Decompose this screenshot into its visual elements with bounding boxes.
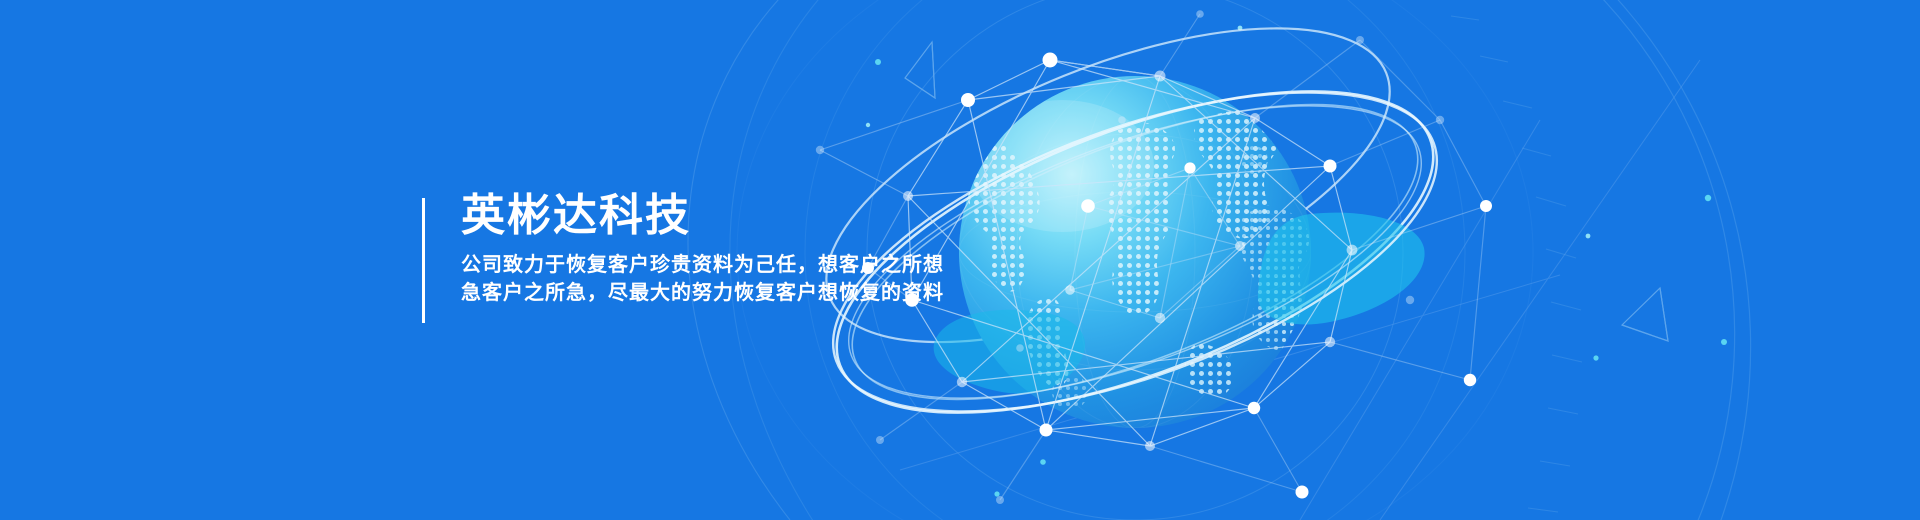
text-column: 英彬达科技 公司致力于恢复客户珍贵资料为己任，想客户之所想 急客户之所急，尽最大…: [425, 190, 944, 325]
subtitle-line-1: 公司致力于恢复客户珍贵资料为己任，想客户之所想: [461, 251, 944, 279]
subtitle-line-2: 急客户之所急，尽最大的努力恢复客户想恢复的资料: [461, 279, 944, 307]
page-title: 英彬达科技: [461, 190, 944, 242]
subtitle-block: 公司致力于恢复客户珍贵资料为己任，想客户之所想 急客户之所急，尽最大的努力恢复客…: [461, 251, 944, 307]
hero-banner: 英彬达科技 公司致力于恢复客户珍贵资料为己任，想客户之所想 急客户之所急，尽最大…: [0, 0, 1920, 520]
brand-text-block: 英彬达科技 公司致力于恢复客户珍贵资料为己任，想客户之所想 急客户之所急，尽最大…: [422, 190, 944, 325]
globe-network-graphic: [0, 0, 1920, 520]
